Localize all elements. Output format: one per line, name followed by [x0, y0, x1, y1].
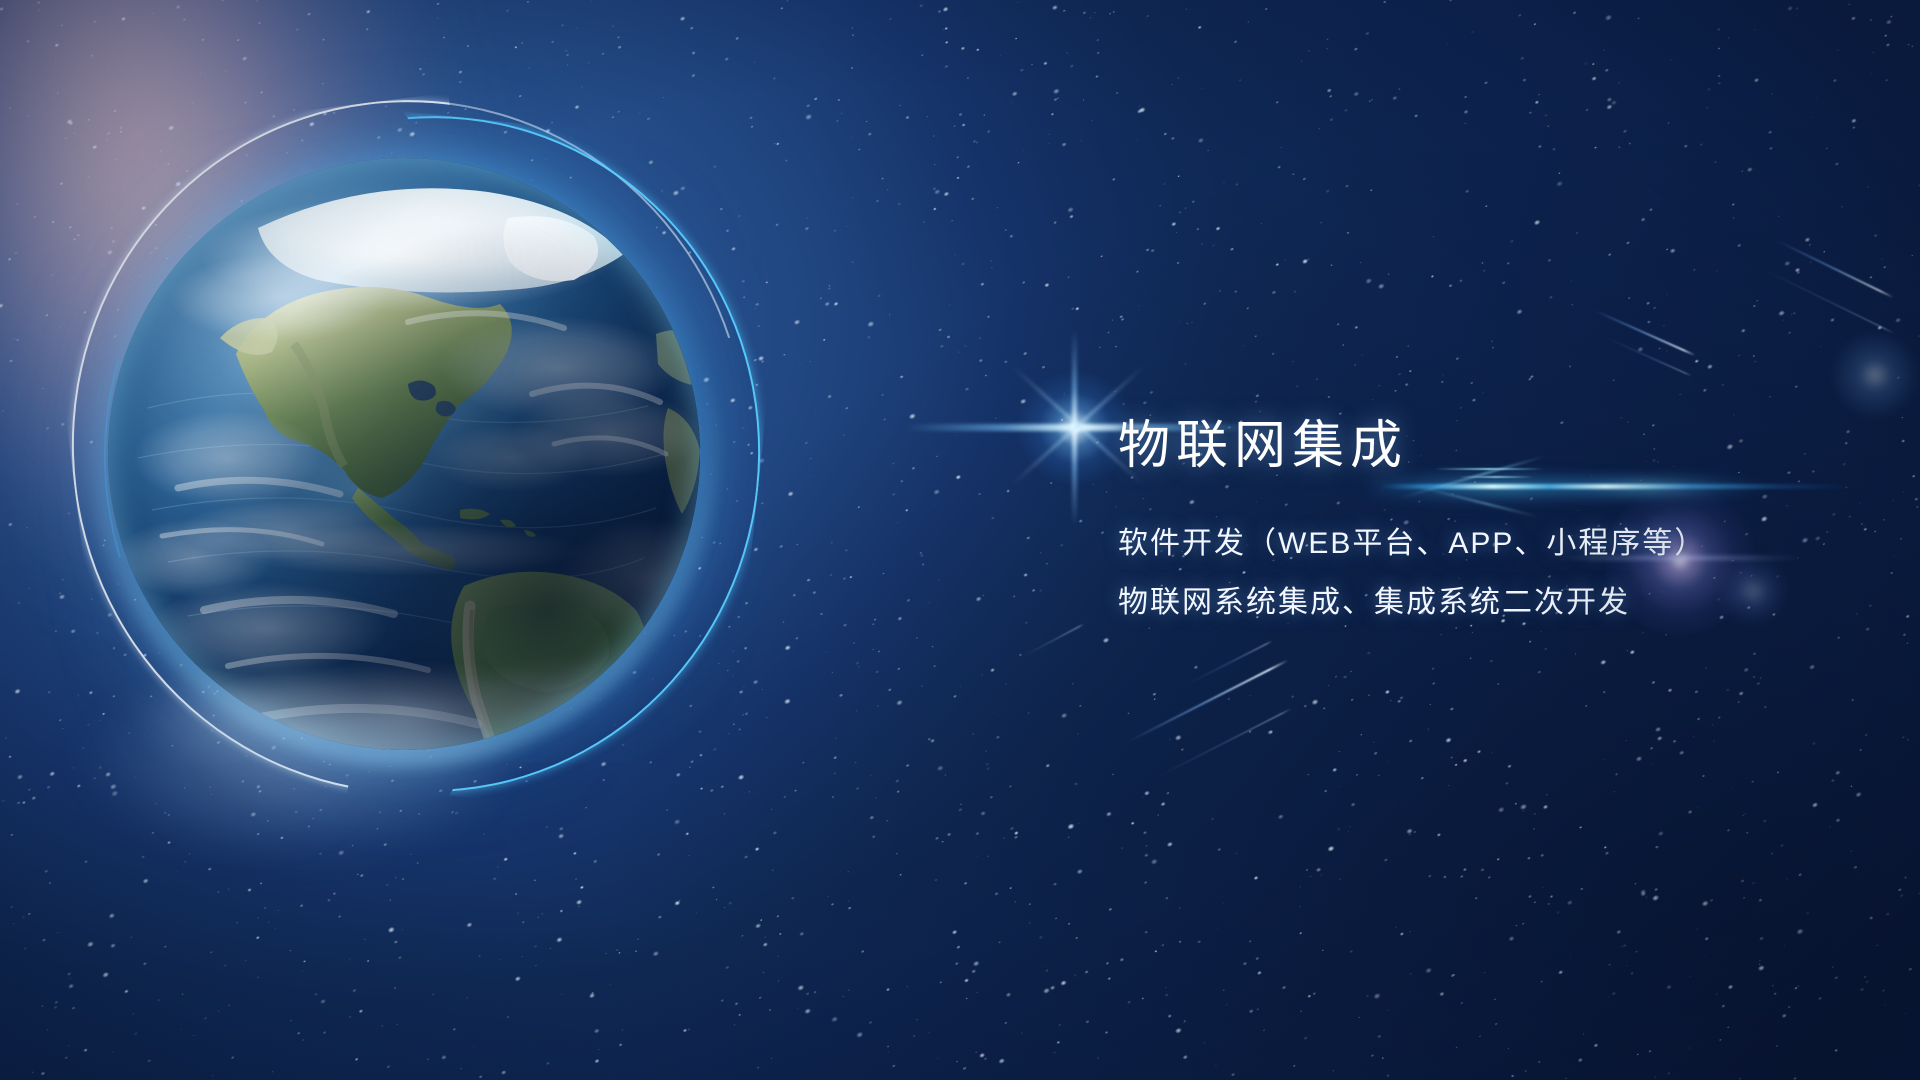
banner-text-block: 物联网集成 软件开发（WEB平台、APP、小程序等） 物联网系统集成、集成系统二…	[1118, 420, 1858, 618]
banner-subline-2: 物联网系统集成、集成系统二次开发	[1118, 588, 1858, 618]
small-lens-flare	[1830, 330, 1920, 420]
banner-subline-1: 软件开发（WEB平台、APP、小程序等）	[1118, 529, 1858, 559]
banner-canvas: 物联网集成 软件开发（WEB平台、APP、小程序等） 物联网系统集成、集成系统二…	[0, 0, 1920, 1080]
globe-reflection-highlight	[90, 640, 410, 820]
banner-headline: 物联网集成	[1118, 420, 1858, 472]
